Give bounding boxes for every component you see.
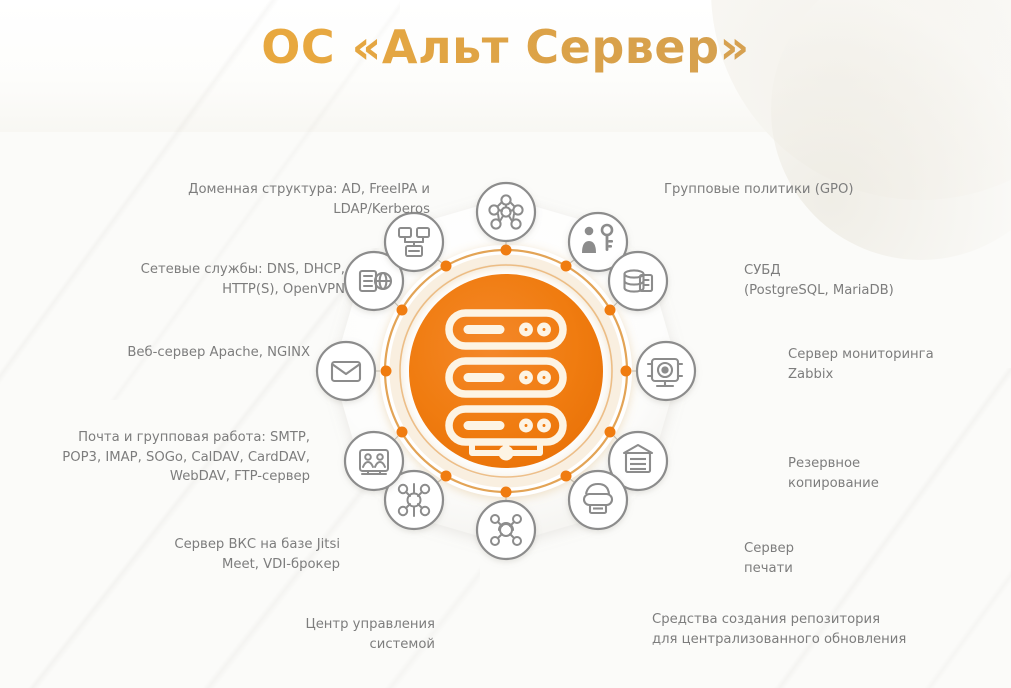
- label-repository-tools: Средства создания репозитория для центра…: [652, 610, 992, 649]
- node-bubble-print-server[interactable]: [569, 471, 627, 529]
- label-dbms: СУБД (PostgreSQL, MariaDB): [744, 261, 984, 300]
- label-domain-structure: Доменная структура: AD, FreeIPA и LDAP/K…: [100, 180, 430, 219]
- page-title: ОС «Альт Сервер»: [0, 20, 1011, 74]
- node-bubble-repository-tools[interactable]: [477, 501, 535, 559]
- node-bubble-network-services[interactable]: [385, 213, 443, 271]
- infographic-canvas: ОС «Альт Сервер»: [0, 0, 1011, 688]
- label-group-policies: Групповые политики (GPO): [664, 180, 964, 200]
- node-bubble-dbms[interactable]: [609, 252, 667, 310]
- label-control-center: Центр управления системой: [210, 615, 435, 654]
- label-print-server: Сервер печати: [744, 539, 949, 578]
- label-backup: Резервное копирование: [788, 454, 1003, 493]
- label-web-server: Веб-сервер Apache, NGINX: [40, 343, 310, 363]
- label-vks-server: Сервер ВКС на базе Jitsi Meet, VDI-броке…: [90, 535, 340, 574]
- node-bubble-monitoring[interactable]: [637, 342, 695, 400]
- label-monitoring: Сервер мониторинга Zabbix: [788, 345, 1011, 384]
- hub-and-spoke-diagram: [286, 150, 726, 670]
- node-bubble-domain-structure[interactable]: [477, 183, 535, 241]
- node-bubble-vks-server[interactable]: [345, 432, 403, 490]
- label-mail-groupware: Почта и групповая работа: SMTP, POP3, IM…: [10, 428, 310, 487]
- label-network-services: Сетевые службы: DNS, DHCP, HTTP(S), Open…: [60, 260, 345, 299]
- node-bubble-mail-groupware[interactable]: [317, 342, 375, 400]
